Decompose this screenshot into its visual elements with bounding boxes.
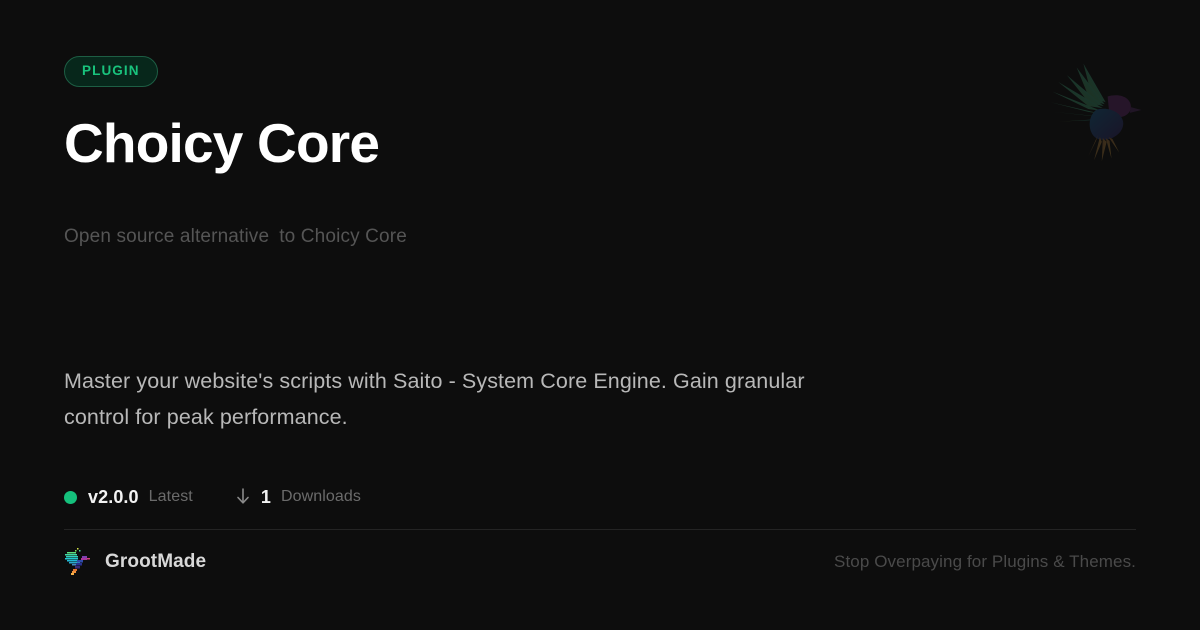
version-stat: v2.0.0 Latest	[64, 487, 193, 508]
subtitle: Open source alternativeto Choicy Core	[64, 225, 407, 250]
version-value: v2.0.0	[88, 487, 139, 508]
downloads-stat: 1 Downloads	[235, 487, 361, 508]
stats-row: v2.0.0 Latest 1 Downloads	[64, 485, 361, 509]
brand: GrootMade	[64, 547, 206, 577]
download-arrow-icon	[235, 488, 251, 506]
brand-name: GrootMade	[105, 551, 206, 573]
footer-tagline: Stop Overpaying for Plugins & Themes.	[834, 552, 1136, 572]
badge-row: PLUGIN	[64, 56, 158, 87]
footer-divider	[64, 529, 1136, 530]
subtitle-suffix: to Choicy Core	[279, 226, 407, 247]
og-card: PLUGIN Choicy Core Open source alternati…	[0, 0, 1200, 630]
downloads-label: Downloads	[281, 488, 361, 506]
status-badge: PLUGIN	[64, 56, 158, 87]
hummingbird-icon	[1038, 52, 1154, 168]
page-title: Choicy Core	[64, 113, 379, 174]
version-label: Latest	[149, 488, 193, 506]
subtitle-prefix: Open source alternative	[64, 226, 269, 247]
description-text: Master your website's scripts with Saito…	[64, 363, 854, 437]
hummingbird-logo-icon	[64, 547, 92, 577]
footer: GrootMade Stop Overpaying for Plugins & …	[64, 545, 1136, 579]
downloads-count: 1	[261, 487, 271, 508]
status-dot-icon	[64, 491, 77, 504]
